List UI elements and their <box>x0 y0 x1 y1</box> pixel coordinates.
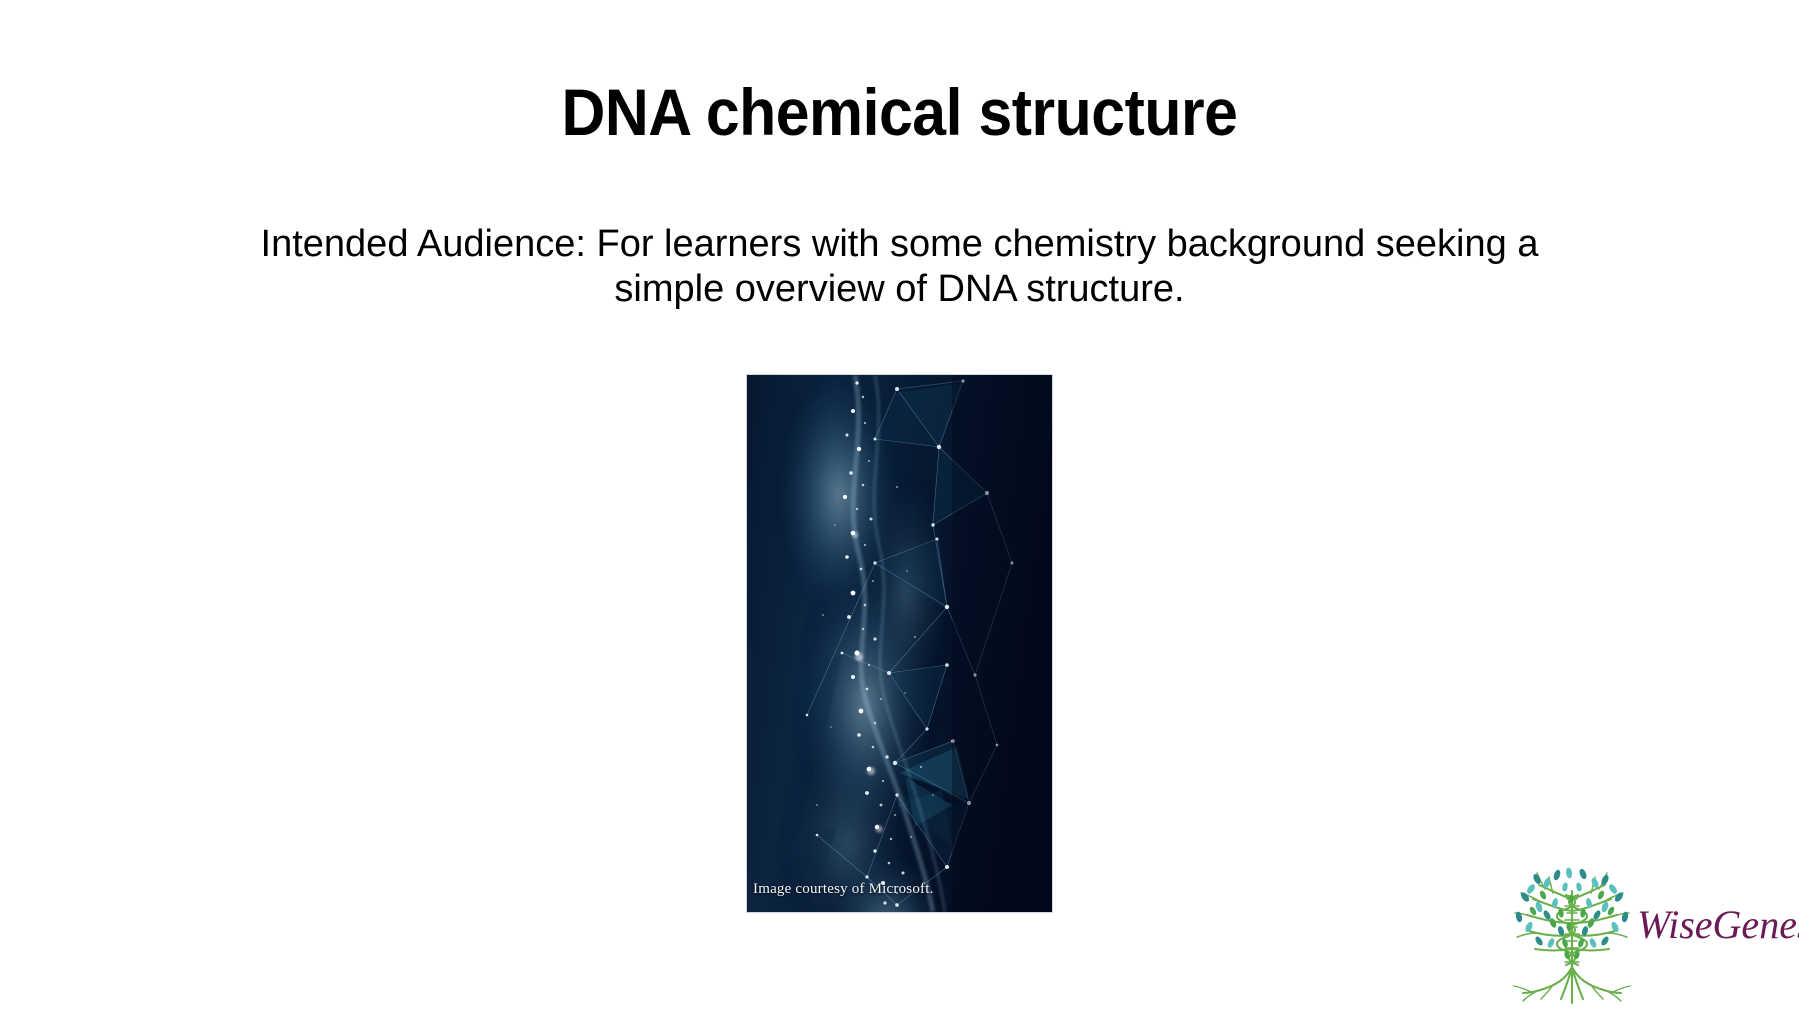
image-credit-caption: Image courtesy of Microsoft. <box>753 881 934 898</box>
wisegenes-logo: WiseGenes <box>1509 865 1789 1005</box>
dna-tree-icon <box>1509 865 1635 1005</box>
slide-subtitle: Intended Audience: For learners with som… <box>250 222 1549 312</box>
wisegenes-wordmark: WiseGenes <box>1637 905 1799 945</box>
dna-image-frame: Image courtesy of Microsoft. <box>747 375 1052 912</box>
page-title: DNA chemical structure <box>72 78 1727 147</box>
slide-canvas: DNA chemical structure Intended Audience… <box>0 0 1799 1012</box>
dna-network-illustration <box>747 375 1052 912</box>
